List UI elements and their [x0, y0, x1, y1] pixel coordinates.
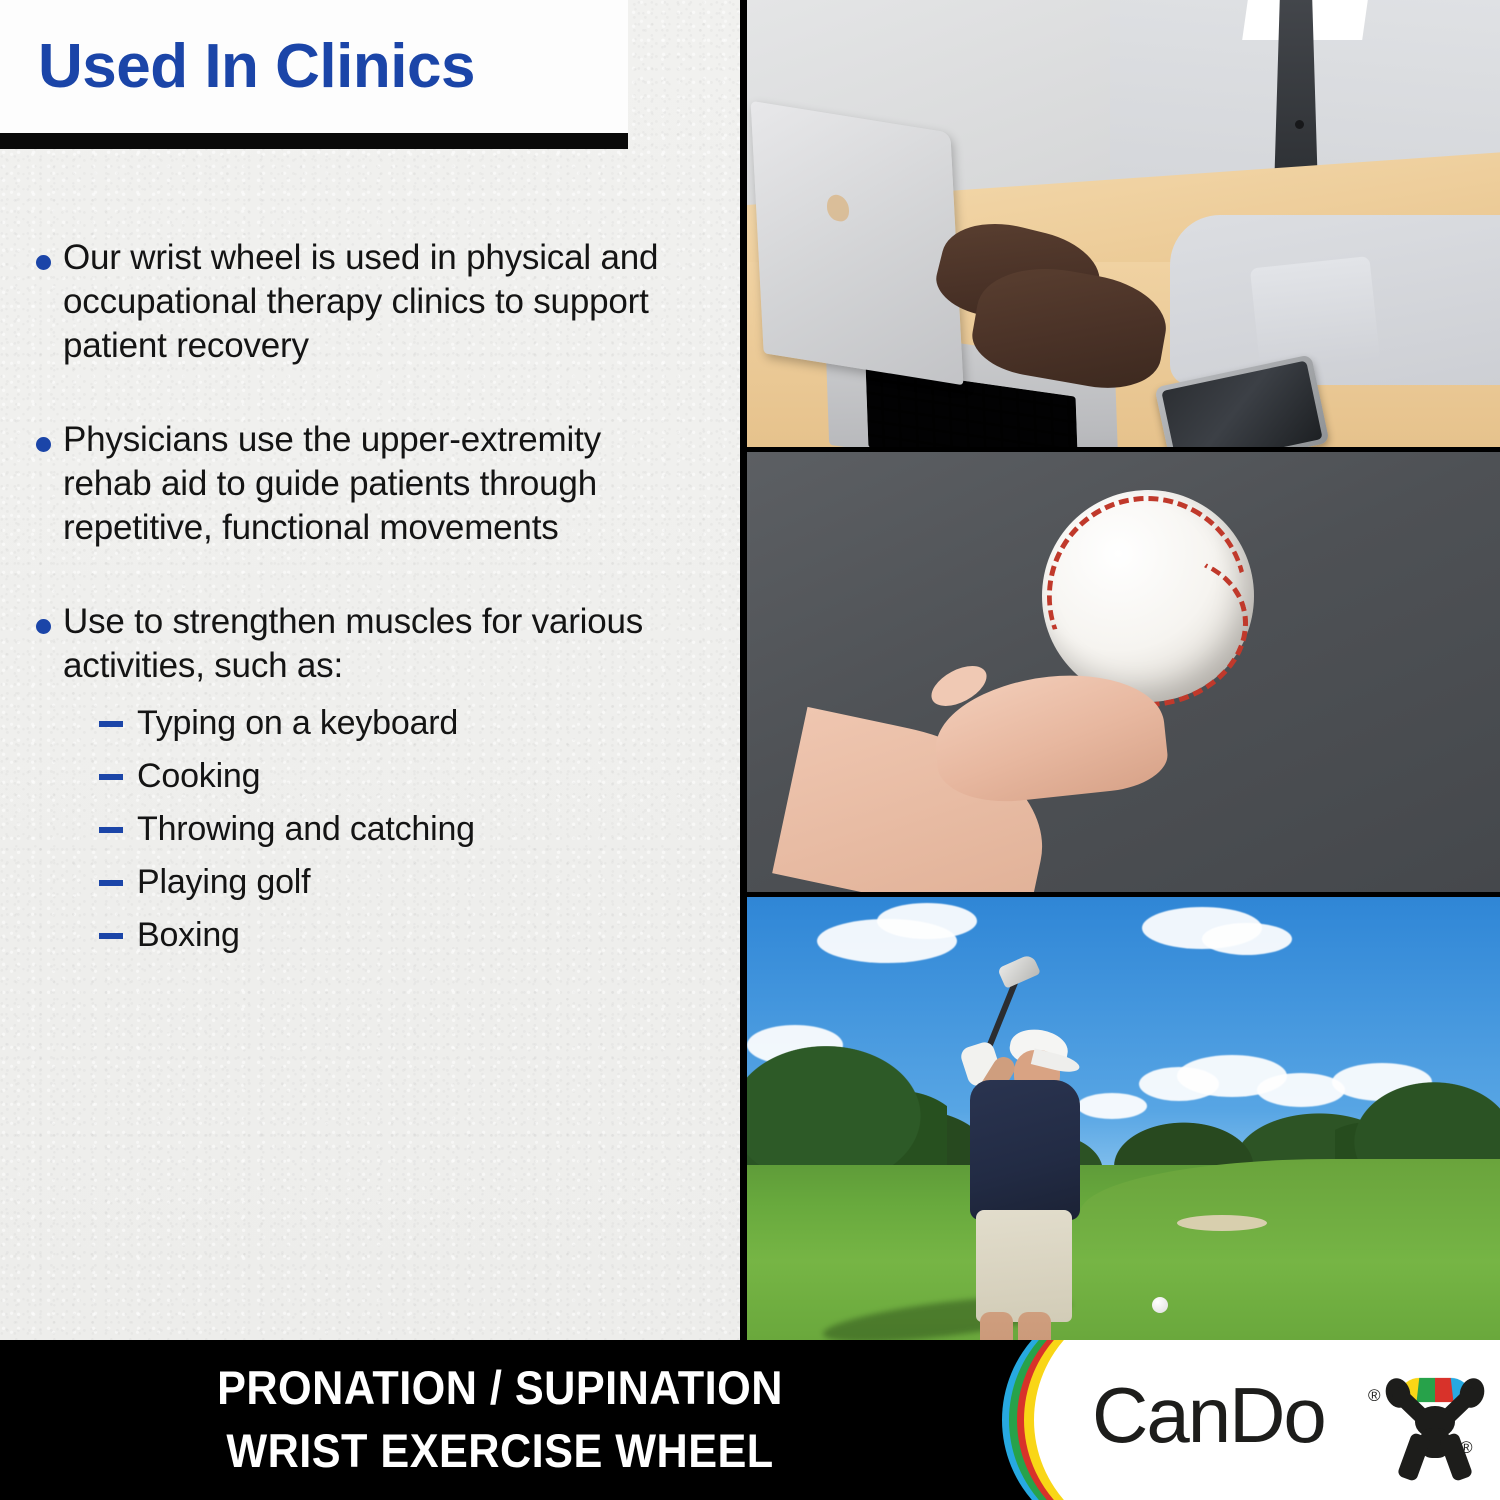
shirt-cuff	[1250, 256, 1380, 373]
sub-list-item-label: Cooking	[137, 753, 700, 800]
photo-person-typing	[747, 0, 1500, 447]
sub-list-item-label: Boxing	[137, 912, 700, 959]
page-title: Used In Clinics	[38, 36, 475, 98]
registered-trademark-icon: ®	[1368, 1386, 1381, 1406]
photo-column	[747, 0, 1500, 1340]
golf-ball	[1152, 1297, 1168, 1313]
cando-figure-icon	[1382, 1376, 1488, 1480]
bullet-dot-icon	[36, 255, 51, 270]
sub-list-item: Throwing and catching	[93, 806, 700, 853]
dash-marker-icon	[99, 933, 123, 939]
sand-bunker	[1177, 1215, 1267, 1231]
photo-golfer-swinging	[747, 897, 1500, 1340]
sub-list-item-label: Throwing and catching	[137, 806, 700, 853]
banner-line-1: PRONATION / SUPINATION	[40, 1356, 960, 1419]
photo-hand-tossing-baseball	[747, 452, 1500, 892]
list-item: Physicians use the upper-extremity rehab…	[0, 418, 700, 550]
sub-list-item: Boxing	[93, 912, 700, 959]
infographic-page: Used In Clinics Our wrist wheel is used …	[0, 0, 1500, 1500]
bullet-text: Our wrist wheel is used in physical and …	[63, 236, 663, 368]
title-underline-rule	[0, 133, 628, 149]
golf-club-head	[997, 953, 1041, 989]
cloud	[877, 903, 977, 939]
golfer-leg	[1018, 1312, 1051, 1340]
dash-marker-icon	[99, 721, 123, 727]
golf-shorts	[976, 1210, 1072, 1322]
brand-logo-panel: CanDo ® ®	[1000, 1340, 1500, 1500]
title-block: Used In Clinics	[0, 0, 628, 133]
bullet-dot-icon	[36, 437, 51, 452]
cando-wordmark: CanDo	[1092, 1376, 1325, 1454]
laptop-lid	[751, 101, 964, 385]
mascot-leg	[1439, 1432, 1474, 1482]
golfer-figure	[922, 982, 1112, 1312]
golfer-leg	[980, 1312, 1013, 1340]
sub-list-item: Typing on a keyboard	[93, 700, 700, 747]
sub-list-item: Cooking	[93, 753, 700, 800]
shirt-button	[1295, 120, 1304, 129]
sub-list-item-label: Playing golf	[137, 859, 700, 906]
banner-line-2: WRIST EXERCISE WHEEL	[40, 1419, 960, 1482]
bullet-text: Physicians use the upper-extremity rehab…	[63, 418, 663, 550]
banner-text-group: PRONATION / SUPINATION WRIST EXERCISE WH…	[0, 1356, 1000, 1482]
activity-sub-list: Typing on a keyboard Cooking Throwing an…	[93, 700, 700, 959]
list-item: Our wrist wheel is used in physical and …	[0, 236, 700, 368]
benefit-bullet-list: Our wrist wheel is used in physical and …	[0, 236, 700, 1009]
bullet-dot-icon	[36, 619, 51, 634]
list-item: Use to strengthen muscles for various ac…	[0, 600, 700, 959]
dash-marker-icon	[99, 774, 123, 780]
bullet-text: Use to strengthen muscles for various ac…	[63, 600, 663, 688]
text-panel: Used In Clinics Our wrist wheel is used …	[0, 0, 740, 1340]
dash-marker-icon	[99, 827, 123, 833]
mascot-leg	[1397, 1432, 1432, 1482]
sub-list-item: Playing golf	[93, 859, 700, 906]
sub-list-item-label: Typing on a keyboard	[137, 700, 700, 747]
golf-polo-shirt	[970, 1080, 1080, 1220]
cloud	[1202, 923, 1292, 955]
dash-marker-icon	[99, 880, 123, 886]
